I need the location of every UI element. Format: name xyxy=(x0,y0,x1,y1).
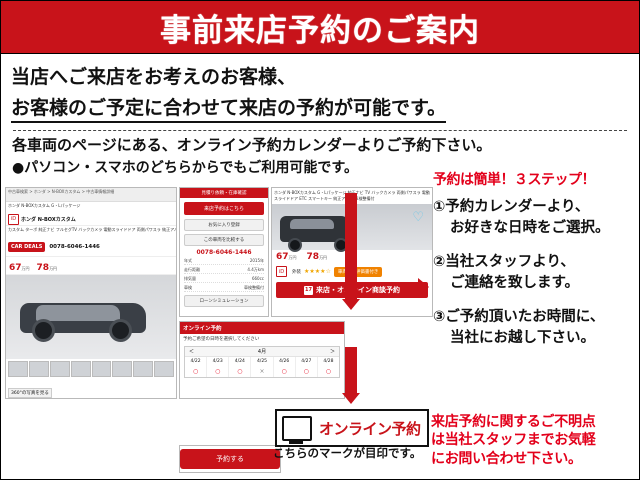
step-line-1: ③ご予約頂いたお時間に、 xyxy=(433,309,604,325)
thumbnail[interactable] xyxy=(92,361,112,377)
spec-row: カスタム ターボ 純正ナビ フルセグTV バックカメラ 電動スライドドア 両側パ… xyxy=(6,226,176,237)
divider xyxy=(13,130,627,131)
lead-line-1: 当店へご来店をお考えのお客様、 xyxy=(11,62,631,89)
listing-title: ホンダ N-BOXカスタム G・Lパッケージ xyxy=(6,202,176,213)
current-month-label: 4月 xyxy=(258,348,266,355)
maker-row: iD ホンダ N-BOXカスタム xyxy=(6,213,176,226)
phone-number: 0078-6046-1446 xyxy=(180,249,268,256)
price-main: 67万円 xyxy=(276,252,297,262)
spec-row: 年式2015年 xyxy=(184,258,264,265)
screenshot-reserve-button: 予約する xyxy=(179,445,281,473)
thumbnail[interactable] xyxy=(8,361,28,377)
note-line-2: は当社スタッフまでお気軽 xyxy=(431,431,639,449)
phone-number: 0078-6046-1446 xyxy=(49,244,100,250)
reserve-visit-button[interactable]: 来店予約はこちら xyxy=(184,202,264,215)
step-line-1: ②当社スタッフより、 xyxy=(433,254,575,270)
availability-mark[interactable]: ○ xyxy=(296,366,318,377)
online-reservation-label: オンライン予約 xyxy=(319,418,421,439)
calendar-date[interactable]: 4/24 xyxy=(229,357,251,366)
thumbnail[interactable] xyxy=(50,361,70,377)
spec-row: 排気量660cc xyxy=(184,276,264,283)
calendar-date[interactable]: 4/28 xyxy=(318,357,339,366)
thumbnail-strip[interactable] xyxy=(6,359,176,379)
price-row: 67万円 78万円 xyxy=(6,257,176,275)
compare-button[interactable]: この車両を比較する xyxy=(184,234,264,246)
maker-label: ホンダ N-BOXカスタム xyxy=(21,216,76,223)
availability-mark: × xyxy=(251,366,273,377)
calendar-date[interactable]: 4/25 xyxy=(251,357,273,366)
heart-icon[interactable]: ♡ xyxy=(412,210,424,225)
steps-list: ①予約カレンダーより、 お好きな日時をご選択。 ②当社スタッフより、 ご連絡を致… xyxy=(433,197,639,362)
page-title: 事前来店予約のご案内 xyxy=(160,5,480,50)
calendar-widget[interactable]: ＜ 4月 ＞ 4/22 4/23 4/24 4/25 4/26 4/27 4/2… xyxy=(184,346,340,378)
thumbnail[interactable] xyxy=(71,361,91,377)
header-banner: 事前来店予約のご案内 xyxy=(1,1,639,54)
star-rating-icon: ★★★★☆ xyxy=(304,268,331,275)
calendar-date[interactable]: 4/23 xyxy=(207,357,229,366)
online-reservation-mark[interactable]: オンライン予約 xyxy=(275,409,429,447)
calendar-date[interactable]: 4/26 xyxy=(274,357,296,366)
availability-mark[interactable]: ○ xyxy=(318,366,339,377)
view-360-button[interactable]: 360°の写真を見る xyxy=(8,388,52,398)
calendar-icon: 17 xyxy=(304,286,313,295)
calendar-header: オンライン予約 xyxy=(180,322,344,334)
spec-row: 走行距離4.4万km xyxy=(184,267,264,274)
step-line-2: 当社にお越し下さい。 xyxy=(433,328,639,349)
contact-note: 来店予約に関するご不明点 は当社スタッフまでお気軽 にお問い合わせ下さい。 xyxy=(431,413,639,468)
mark-caption: こちらのマークが目印です。 xyxy=(273,445,421,461)
step-line-1: ①予約カレンダーより、 xyxy=(433,199,589,215)
lead-line-2: お客様のご予定に合わせて来店の予約が可能です。 xyxy=(11,93,446,123)
screenshot-side-panel: 見積り依頼・在庫確認 来店予約はこちら お気に入り登録 この車両を比較する 00… xyxy=(179,187,269,317)
breadcrumb: 中古車検索 > ホンダ > N-BOXカスタム > 中古車情報詳細 xyxy=(6,188,176,202)
car-illustration xyxy=(20,295,146,339)
availability-mark[interactable]: ○ xyxy=(274,366,296,377)
price-sub: 78万円 xyxy=(37,263,58,273)
calendar-date-row: 4/22 4/23 4/24 4/25 4/26 4/27 4/28 xyxy=(185,357,339,366)
thumbnail[interactable] xyxy=(29,361,49,377)
condition-badge: 車両状態評価書付き xyxy=(334,267,383,277)
favorite-button[interactable]: お気に入り登録 xyxy=(184,219,264,231)
thumbnail[interactable] xyxy=(112,361,132,377)
car-photo xyxy=(6,275,176,359)
step-line-2: ご連絡を致します。 xyxy=(433,273,639,294)
lead-line-3: 各車両のページにある、オンライン予約カレンダーよりご予約下さい。 xyxy=(12,134,631,155)
reserve-button[interactable]: 予約する xyxy=(180,449,280,469)
price-main: 67万円 xyxy=(9,263,30,273)
calendar-date[interactable]: 4/27 xyxy=(296,357,318,366)
availability-mark[interactable]: ○ xyxy=(207,366,229,377)
calendar-availability-row: ○ ○ ○ × ○ ○ ○ xyxy=(185,366,339,377)
shop-logo-icon: iD xyxy=(276,266,287,277)
screenshot-car-detail: 中古車検索 > ホンダ > N-BOXカスタム > 中古車情報詳細 ホンダ N-… xyxy=(5,187,177,399)
prev-month-button[interactable]: ＜ xyxy=(189,348,194,355)
detail-button[interactable]: ローンシミュレーション xyxy=(184,295,264,307)
shop-logo-icon: iD xyxy=(8,214,19,225)
step-item: ②当社スタッフより、 ご連絡を致します。 xyxy=(433,252,639,294)
spec-row: 車検車検整備付 xyxy=(184,285,264,292)
availability-mark[interactable]: ○ xyxy=(229,366,251,377)
availability-mark[interactable]: ○ xyxy=(185,366,207,377)
thumbnail[interactable] xyxy=(154,361,174,377)
lead-block: 当店へご来店をお考えのお客様、 お客様のご予定に合わせて来店の予約が可能です。 … xyxy=(1,54,639,181)
step-item: ③ご予約頂いたお時間に、 当社にお越し下さい。 xyxy=(433,307,639,349)
brand-row: CAR DEALS 0078-6046-1446 xyxy=(6,237,176,257)
step-line-2: お好きな日時をご選択。 xyxy=(433,218,639,239)
screenshot-calendar: オンライン予約 予約ご希望の日時を選択してください ＜ 4月 ＞ 4/22 4/… xyxy=(179,321,345,399)
note-line-3: にお問い合わせ下さい。 xyxy=(431,450,639,468)
thumbnail[interactable] xyxy=(133,361,153,377)
note-line-1: 来店予約に関するご不明点 xyxy=(431,413,639,431)
brand-badge: CAR DEALS xyxy=(8,242,45,252)
monitor-icon xyxy=(282,416,312,441)
steps-headline: 予約は簡単！３ステップ！ xyxy=(433,169,637,189)
calendar-subtitle: 予約ご希望の日時を選択してください xyxy=(180,334,344,344)
next-month-button[interactable]: ＞ xyxy=(330,348,335,355)
reserve-visit-label: 来店・オンライン商談予約 xyxy=(316,285,400,295)
step-item: ①予約カレンダーより、 お好きな日時をご選択。 xyxy=(433,197,639,239)
screenshot-montage: 中古車検索 > ホンダ > N-BOXカスタム > 中古車情報詳細 ホンダ N-… xyxy=(5,187,429,477)
price-sub: 78万円 xyxy=(307,252,328,262)
poster-page: 事前来店予約のご案内 当店へご来店をお考えのお客様、 お客様のご予定に合わせて来… xyxy=(0,0,640,480)
calendar-nav[interactable]: ＜ 4月 ＞ xyxy=(185,347,339,357)
rating-label: 外装 xyxy=(292,269,301,275)
panel-header: 見積り依頼・在庫確認 xyxy=(180,188,268,198)
calendar-date[interactable]: 4/22 xyxy=(185,357,207,366)
